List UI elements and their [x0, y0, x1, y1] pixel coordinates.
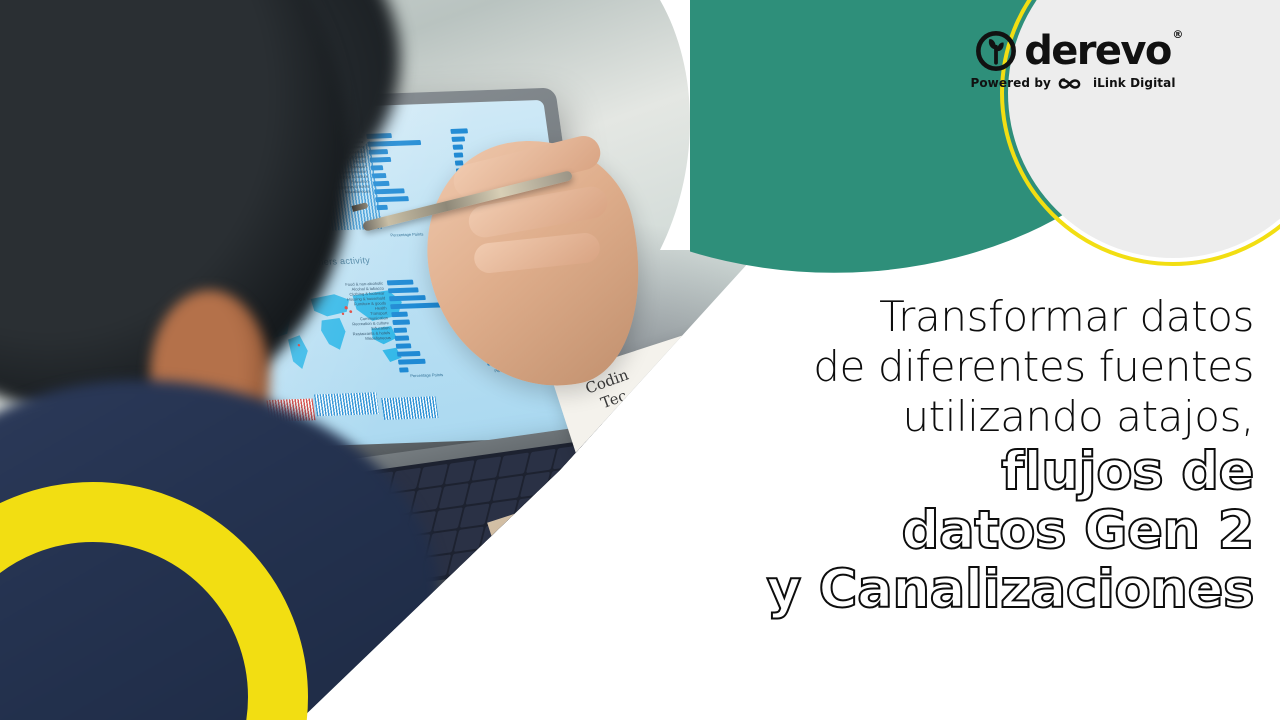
screen-axis-label-1: Percentage Points	[390, 231, 424, 237]
screen-axis-label-3: Percentage Points	[410, 372, 444, 378]
logo-wordmark: derevo®	[1024, 31, 1171, 71]
headline-outline: flujos de datos Gen 2 y Canalizaciones	[634, 442, 1254, 621]
screen-striped-chart-blue-2	[381, 396, 438, 420]
headline-outline-line-2: datos Gen 2	[634, 501, 1254, 562]
logo-wordmark-text: derevo	[1024, 28, 1171, 74]
headline-light-line-1: Transformar datos	[634, 292, 1254, 342]
headline-light-line-2: de diferentes fuentes	[634, 342, 1254, 392]
powered-by-label: Powered by	[970, 76, 1051, 90]
screen-striped-chart-blue-1	[314, 392, 379, 416]
brand-logo: derevo® Powered by iLink Digital	[958, 30, 1188, 90]
ilink-infinity-icon	[1057, 77, 1087, 90]
logo-row: derevo®	[958, 30, 1188, 72]
screen-bar-group-1	[366, 132, 439, 210]
partner-name: iLink Digital	[1093, 76, 1176, 90]
headline-block: Transformar datos de diferentes fuentes …	[634, 292, 1254, 621]
derevo-leaf-circle-icon	[975, 30, 1017, 72]
promo-banner: Food & non-alcoholic Alcohol & tobacco C…	[0, 0, 1280, 720]
registered-trademark-icon: ®	[1172, 29, 1181, 40]
headline-light-line-3: utilizando atajos,	[634, 392, 1254, 442]
headline-outline-line-1: flujos de	[634, 442, 1254, 503]
headline-outline-line-3: y Canalizaciones	[634, 560, 1254, 621]
headline-light: Transformar datos de diferentes fuentes …	[634, 292, 1254, 442]
powered-by-row: Powered by iLink Digital	[958, 76, 1188, 90]
